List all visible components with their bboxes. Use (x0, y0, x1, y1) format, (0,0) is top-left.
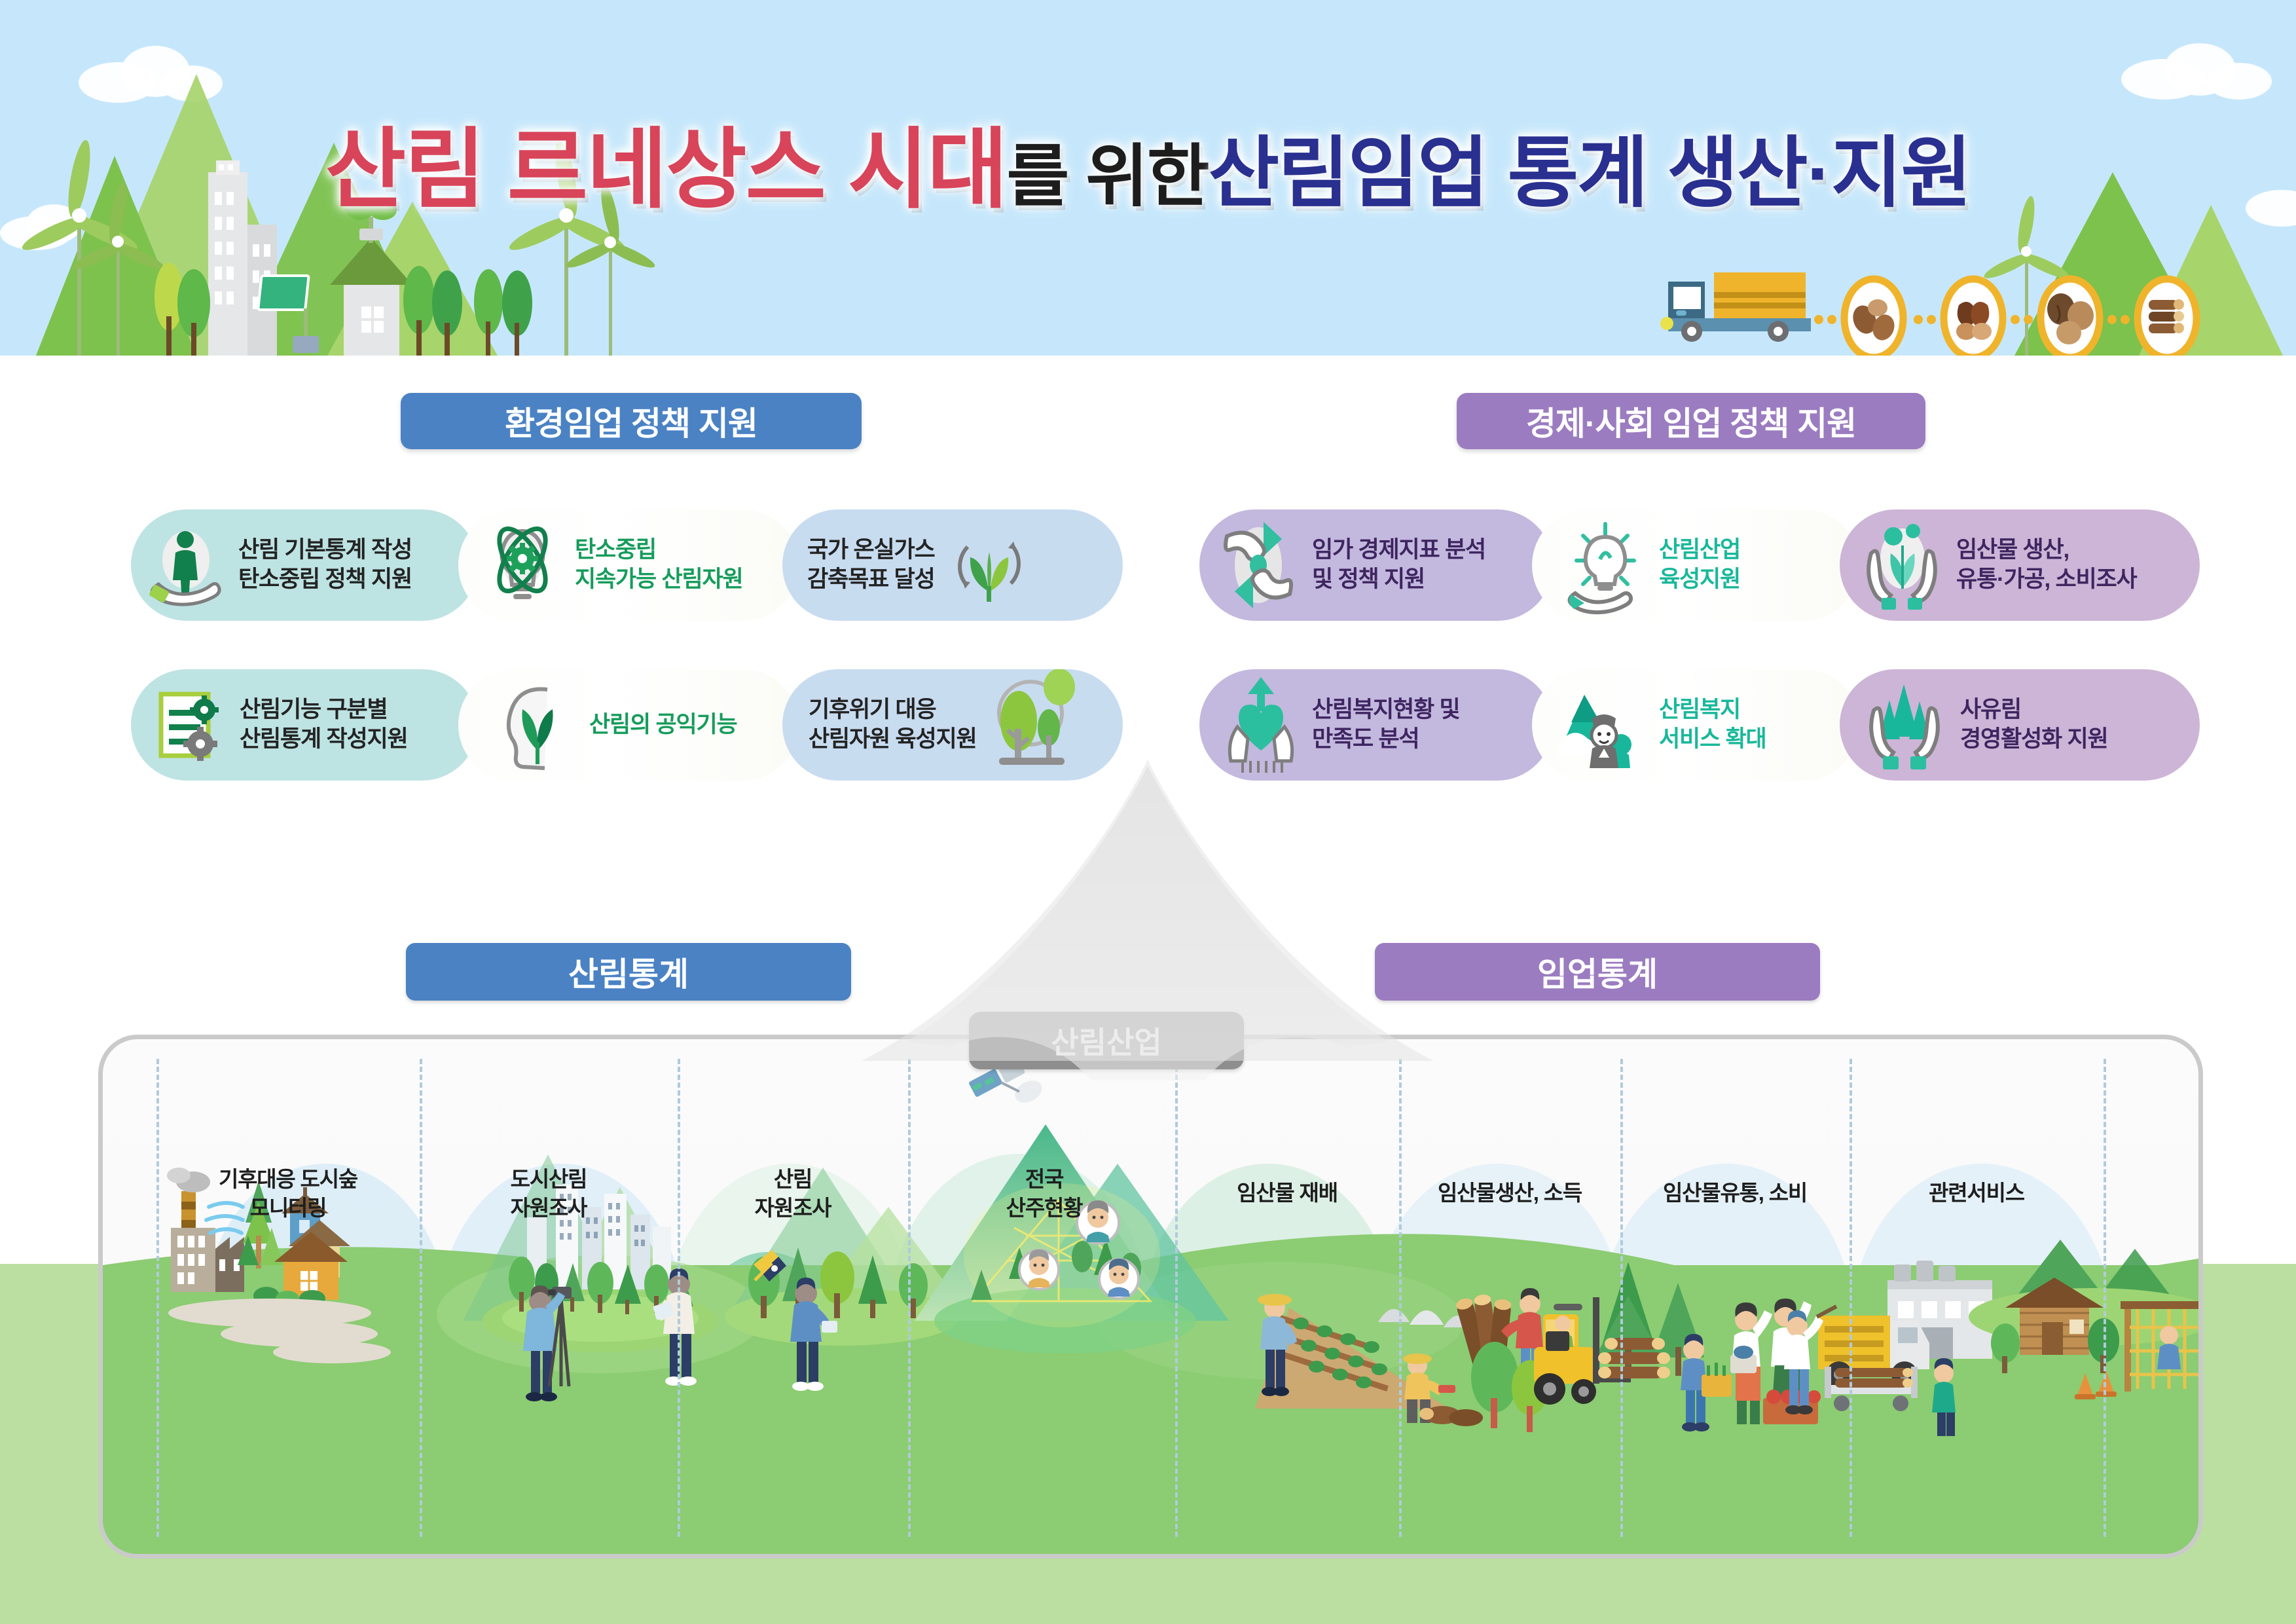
forest-product-supply-chain (1656, 254, 2226, 342)
capsule-env-3-label: 국가 온실가스감축목표 달성 (807, 536, 935, 595)
atom-gear-bulb-icon (482, 522, 563, 608)
mushroom-icon (1844, 279, 1903, 356)
cloud-icon (2206, 63, 2272, 100)
column-label-6: 임산물생산, 소득 (1399, 1179, 1620, 1208)
column-label-2: 도시산림자원조사 (420, 1165, 678, 1222)
capsule-env-2[interactable]: 탄소중립지속가능 산림자원 (458, 509, 799, 621)
capsule-env-2-label: 탄소중립지속가능 산림자원 (575, 536, 743, 595)
hands-leaf-icon (1859, 519, 1944, 611)
column-divider (1175, 1059, 1178, 1537)
column-label-4: 전국산주현황 (913, 1165, 1175, 1222)
section-header-economy: 경제·사회 임업 정책 지원 (1457, 393, 1925, 449)
recycle-hands-icon (1216, 519, 1300, 611)
capsule-env-1-label: 산림 기본통계 작성탄소중립 정책 지원 (238, 536, 412, 595)
column-divider (908, 1059, 911, 1537)
column-label-3: 산림자원조사 (678, 1165, 908, 1222)
person-on-hand-icon (149, 524, 228, 606)
column-divider (1399, 1059, 1402, 1537)
upward-arrow-graphic (0, 740, 2296, 1107)
title-main: 산림임업 통계 생산·지원 (1209, 130, 1971, 217)
capsule-econ-1[interactable]: 임가 경제지표 분석및 정책 지원 (1199, 509, 1553, 621)
bulb-hand-icon (1569, 520, 1645, 610)
capsule-econ-1-label: 임가 경제지표 분석및 정책 지원 (1312, 536, 1485, 595)
title-highlight: 산림 르네상스 시대 (325, 121, 1007, 219)
page-title: 산림 르네상스 시대를 위한산림임업 통계 생산·지원 (0, 98, 2296, 225)
column-label-1: 기후대응 도시숲모니터링 (156, 1165, 420, 1222)
column-divider (1850, 1059, 1852, 1537)
delivery-truck-icon (1660, 272, 1811, 342)
column-label-8: 관련서비스 (1850, 1179, 2104, 1208)
capsule-econ-3[interactable]: 임산물 생산,유통·가공, 소비조사 (1840, 509, 2200, 621)
leaf-cycle-icon (948, 523, 1030, 607)
capsule-env-1[interactable]: 산림 기본통계 작성탄소중립 정책 지원 (131, 509, 478, 621)
capsule-env-3[interactable]: 국가 온실가스감축목표 달성 (782, 509, 1123, 621)
value-chain-panel: 기후대응 도시숲모니터링 도시산림자원조사 산림자원조사 전국산주현황 임산물 … (98, 1035, 2203, 1559)
column-divider (156, 1059, 159, 1537)
column-label-7: 임산물유통, 소비 (1620, 1179, 1850, 1208)
column-divider (2104, 1059, 2106, 1537)
walnut-icon (2041, 279, 2100, 356)
column-divider (420, 1059, 422, 1537)
top-banner: 산림 르네상스 시대를 위한산림임업 통계 생산·지원 (0, 0, 2296, 356)
capsule-econ-2[interactable]: 산림산업육성지원 (1532, 509, 1859, 621)
capsule-env-5-label: 산림의 공익기능 (589, 710, 737, 740)
capsule-econ-2-label: 산림산업육성지원 (1659, 536, 1740, 595)
title-connector: 를 위한 (1007, 139, 1209, 215)
chestnut-icon (1944, 279, 2003, 356)
column-label-5: 임산물 재배 (1175, 1179, 1399, 1208)
log-stack-icon (2138, 279, 2196, 356)
section-header-environment: 환경임업 정책 지원 (401, 393, 862, 449)
column-divider (678, 1059, 680, 1537)
capsule-econ-3-label: 임산물 생산,유통·가공, 소비조사 (1956, 536, 2137, 595)
column-divider (1620, 1059, 1623, 1537)
